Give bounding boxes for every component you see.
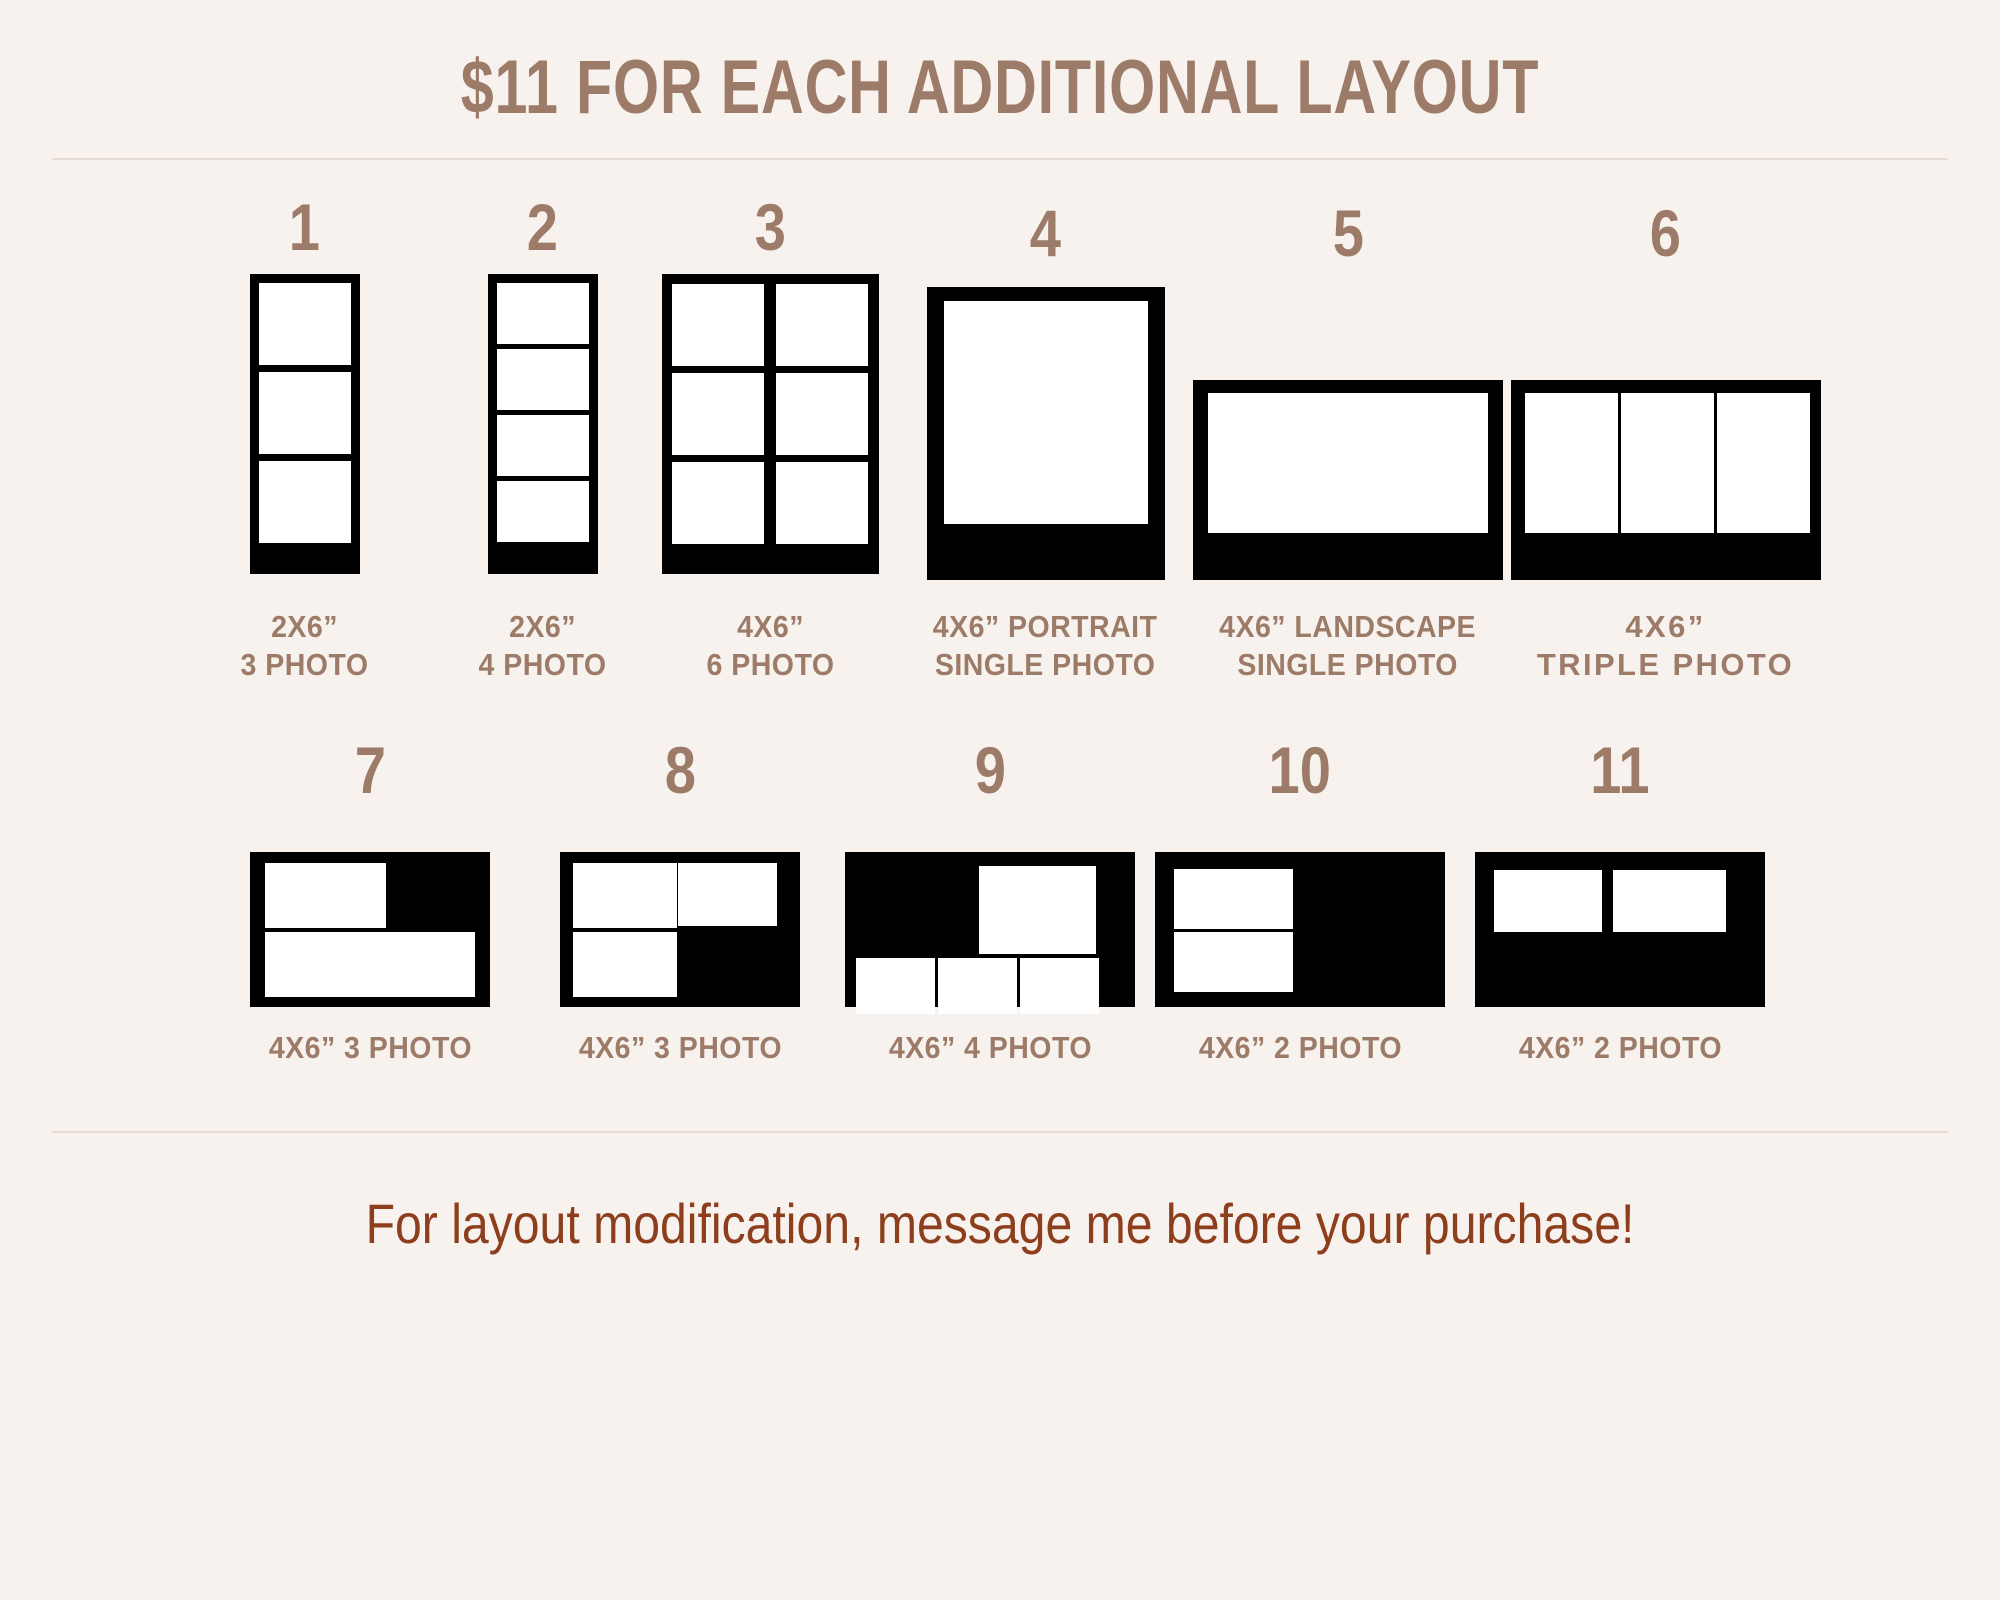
photo-slot: [259, 461, 351, 543]
layout-card-3[interactable]: 3 4X6” 6 PHOTO: [646, 194, 896, 684]
layout-number-5: 5: [1332, 200, 1363, 266]
layout-number-8: 8: [664, 737, 695, 803]
photo-slot: [1717, 393, 1810, 533]
collage-frame: [560, 852, 800, 1007]
photo-slot: [944, 301, 1148, 524]
layout-caption-6: 4X6” TRIPLE PHOTO: [1537, 608, 1794, 684]
layout-price-poster: $11 FOR EACH ADDITIONAL LAYOUT 1 2X6” 3 …: [0, 0, 2000, 1600]
layout-caption-9: 4X6” 4 PHOTO: [888, 1029, 1091, 1067]
photo-grid-frame: [662, 274, 879, 574]
layout-number-7: 7: [354, 737, 385, 803]
layout-card-1[interactable]: 1 2X6” 3 PHOTO: [170, 194, 440, 684]
layout-card-7[interactable]: 7 4X6” 3 PHOTO: [215, 737, 525, 1067]
layout-art-4: [927, 280, 1165, 580]
photo-slot: [776, 284, 868, 366]
photo-slot: [497, 481, 589, 542]
photo-slot: [1174, 869, 1293, 929]
layout-caption-11: 4X6” 2 PHOTO: [1518, 1029, 1721, 1067]
divider-top: [52, 158, 1948, 160]
layout-art-1: [250, 274, 360, 574]
footer-note: For layout modification, message me befo…: [140, 1193, 1860, 1255]
layout-caption-10: 4X6” 2 PHOTO: [1198, 1029, 1401, 1067]
layout-number-9: 9: [974, 737, 1005, 803]
layout-caption-7: 4X6” 3 PHOTO: [268, 1029, 471, 1067]
page-title: $11 FOR EACH ADDITIONAL LAYOUT: [220, 48, 1780, 128]
photo-slot: [678, 863, 777, 926]
photo-slot: [1174, 932, 1293, 992]
photo-slot: [776, 462, 868, 544]
photo-slot: [979, 866, 1096, 954]
photo-slot: [259, 372, 351, 454]
layout-card-2[interactable]: 2 2X6” 4 PHOTO: [440, 194, 646, 684]
layout-art-9: [845, 817, 1135, 1007]
layout-card-6[interactable]: 6 4X6” TRIPLE PHOTO: [1501, 200, 1831, 684]
layout-caption-1: 2X6” 3 PHOTO: [241, 608, 369, 684]
photo-slot: [497, 349, 589, 410]
layout-art-8: [560, 817, 800, 1007]
layout-art-11: [1475, 817, 1765, 1007]
layout-number-10: 10: [1269, 737, 1331, 803]
poster-header: $11 FOR EACH ADDITIONAL LAYOUT: [0, 0, 2000, 128]
layout-caption-4: 4X6” PORTRAIT SINGLE PHOTO: [933, 608, 1158, 684]
photo-slot: [1494, 870, 1602, 932]
photo-slot: [265, 863, 386, 928]
layout-art-2: [488, 274, 598, 574]
layout-number-1: 1: [289, 194, 320, 260]
layout-number-6: 6: [1650, 200, 1681, 266]
layout-row-2: 7 4X6” 3 PHOTO 8 4X6” 3 PHOTO: [0, 737, 2000, 1067]
layout-card-8[interactable]: 8 4X6” 3 PHOTO: [525, 737, 835, 1067]
collage-frame: [1475, 852, 1765, 1007]
photo-slot: [672, 373, 764, 455]
layout-number-11: 11: [1590, 737, 1649, 803]
photo-slot: [573, 932, 677, 997]
photo-slot: [1613, 870, 1726, 932]
layout-card-5[interactable]: 5 4X6” LANDSCAPE SINGLE PHOTO: [1196, 200, 1501, 684]
layout-row-1: 1 2X6” 3 PHOTO 2 2X6” 4 P: [0, 194, 2000, 684]
layout-art-5: [1193, 280, 1503, 580]
landscape-single-frame: [1193, 380, 1503, 580]
divider-bottom: [52, 1131, 1948, 1133]
layout-card-11[interactable]: 11 4X6” 2 PHOTO: [1455, 737, 1785, 1067]
photo-slot: [776, 373, 868, 455]
layout-card-9[interactable]: 9 4X6” 4 PHOTO: [835, 737, 1145, 1067]
layout-caption-8: 4X6” 3 PHOTO: [578, 1029, 781, 1067]
photo-slot: [856, 958, 935, 1014]
portrait-single-frame: [927, 287, 1165, 580]
photo-slot: [573, 863, 677, 928]
photo-slot: [672, 284, 764, 366]
collage-frame: [845, 852, 1135, 1007]
photo-slot: [497, 283, 589, 344]
layout-art-3: [662, 274, 879, 574]
photo-slot: [371, 932, 475, 997]
photo-slot: [265, 932, 386, 997]
layout-caption-5: 4X6” LANDSCAPE SINGLE PHOTO: [1220, 608, 1477, 684]
photo-slot: [259, 283, 351, 365]
layout-number-2: 2: [527, 194, 558, 260]
collage-frame: [1155, 852, 1445, 1007]
photo-slot: [1020, 958, 1099, 1014]
layout-art-10: [1155, 817, 1445, 1007]
photo-strip-frame: [250, 274, 360, 574]
poster-footer: For layout modification, message me befo…: [0, 1193, 2000, 1255]
layout-caption-2: 2X6” 4 PHOTO: [479, 608, 607, 684]
layout-number-3: 3: [755, 194, 786, 260]
photo-strip-frame: [488, 274, 598, 574]
photo-slot: [1208, 393, 1488, 533]
photo-slot: [1525, 393, 1618, 533]
collage-frame: [250, 852, 490, 1007]
layout-card-4[interactable]: 4 4X6” PORTRAIT SINGLE PHOTO: [896, 200, 1196, 684]
layout-caption-3: 4X6” 6 PHOTO: [707, 608, 835, 684]
photo-slot: [497, 415, 589, 476]
triple-photo-frame: [1511, 380, 1821, 580]
layout-art-7: [250, 817, 490, 1007]
layout-card-10[interactable]: 10 4X6” 2 PHOTO: [1145, 737, 1455, 1067]
photo-slot: [938, 958, 1017, 1014]
layout-number-4: 4: [1030, 200, 1061, 266]
photo-slot: [1621, 393, 1714, 533]
photo-slot: [672, 462, 764, 544]
layout-art-6: [1511, 280, 1821, 580]
